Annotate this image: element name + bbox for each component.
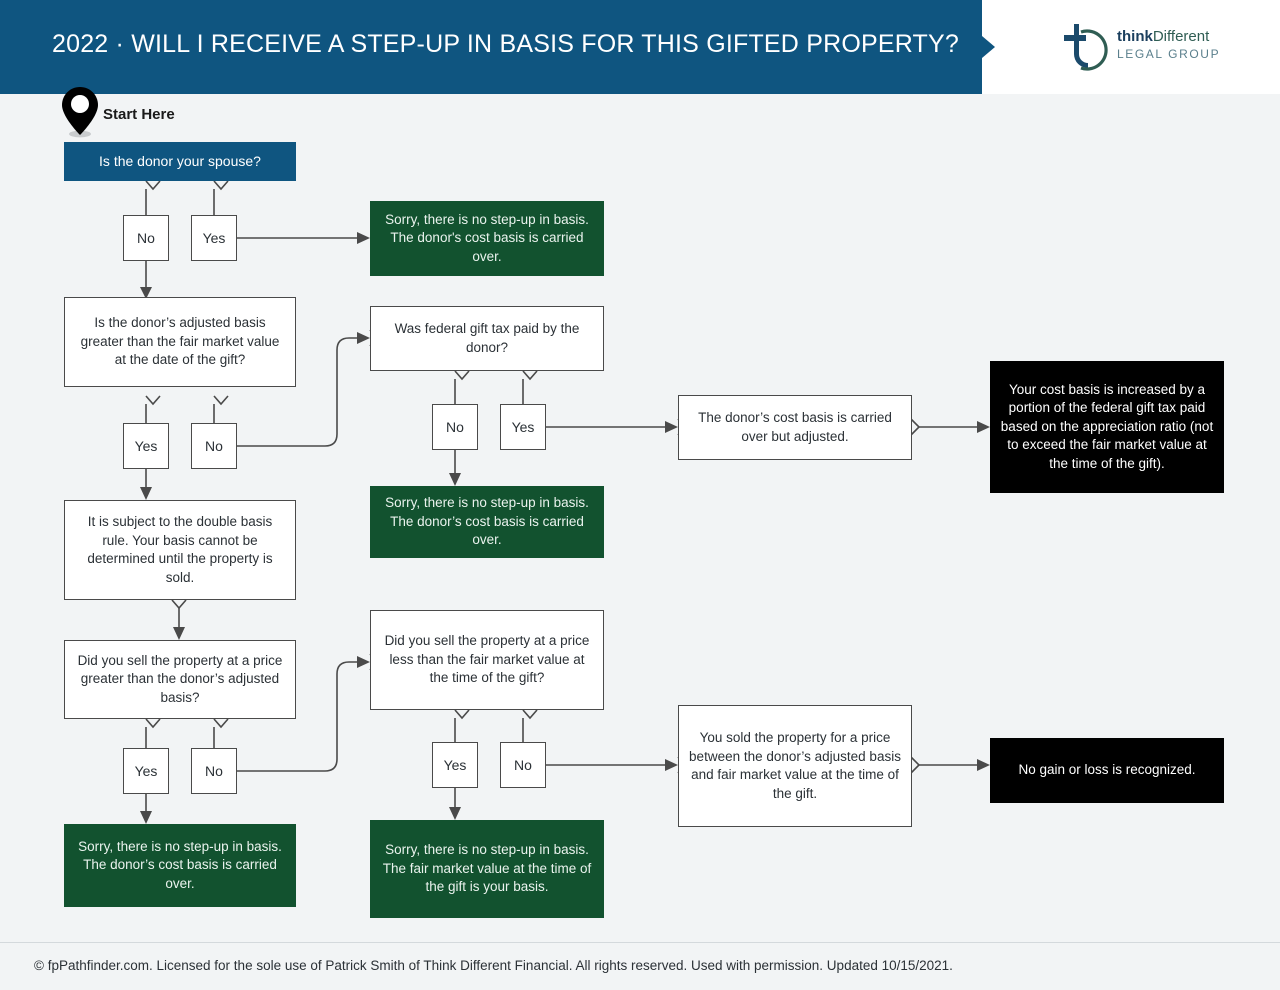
result-no-stepup-carryover-2[interactable]: Sorry, there is no step-up in basis. The… <box>370 486 604 558</box>
result-carried-over-but-adjusted[interactable]: The donor’s cost basis is carried over b… <box>678 395 912 460</box>
result-double-basis-rule[interactable]: It is subject to the double basis rule. … <box>64 500 296 600</box>
result-no-stepup-carryover-3[interactable]: Sorry, there is no step-up in basis. The… <box>64 824 296 907</box>
result-fmv-is-your-basis[interactable]: Sorry, there is no step-up in basis. The… <box>370 820 604 918</box>
result-basis-increased-by-gift-tax[interactable]: Your cost basis is increased by a portio… <box>990 361 1224 493</box>
option-q4-no[interactable]: No <box>191 748 237 794</box>
question-sold-below-fmv[interactable]: Did you sell the property at a price les… <box>370 610 604 710</box>
result-price-between-basis-and-fmv[interactable]: You sold the property for a price betwee… <box>678 705 912 827</box>
question-sold-above-adjusted-basis[interactable]: Did you sell the property at a price gre… <box>64 640 296 719</box>
option-q1-no[interactable]: No <box>123 215 169 261</box>
question-adjusted-basis-greater-than-fmv[interactable]: Is the donor’s adjusted basis greater th… <box>64 297 296 387</box>
question-federal-gift-tax-paid[interactable]: Was federal gift tax paid by the donor? <box>370 306 604 371</box>
option-q2-yes[interactable]: Yes <box>123 423 169 469</box>
option-q2-no[interactable]: No <box>191 423 237 469</box>
flowchart-page: 2022 · WILL I RECEIVE A STEP-UP IN BASIS… <box>0 0 1280 990</box>
result-no-stepup-carryover-1[interactable]: Sorry, there is no step-up in basis. The… <box>370 201 604 276</box>
footer-divider <box>0 942 1280 943</box>
question-is-donor-spouse[interactable]: Is the donor your spouse? <box>64 142 296 181</box>
option-q5-no[interactable]: No <box>500 742 546 788</box>
option-q4-yes[interactable]: Yes <box>123 748 169 794</box>
footer-copyright: © fpPathfinder.com. Licensed for the sol… <box>34 958 953 973</box>
option-q3-no[interactable]: No <box>432 404 478 450</box>
option-q3-yes[interactable]: Yes <box>500 404 546 450</box>
result-no-gain-or-loss[interactable]: No gain or loss is recognized. <box>990 738 1224 803</box>
option-q5-yes[interactable]: Yes <box>432 742 478 788</box>
option-q1-yes[interactable]: Yes <box>191 215 237 261</box>
